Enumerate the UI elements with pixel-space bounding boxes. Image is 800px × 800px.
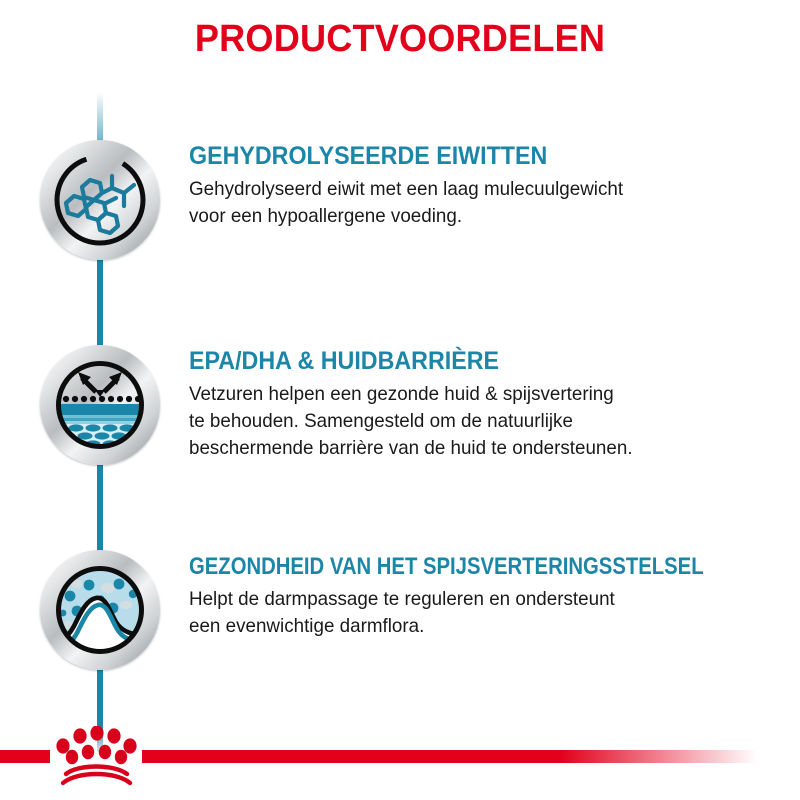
footer-bar-left [0, 750, 50, 763]
benefit-heading: GEHYDROLYSEERDE EIWITTEN [189, 142, 747, 171]
benefit-text-block: GEHYDROLYSEERDE EIWITTEN Gehydrolyseerd … [189, 142, 789, 230]
benefit-body-line: Helpt de darmpassage te reguleren en ond… [189, 586, 768, 613]
benefit-row: GEZONDHEID VAN HET SPIJSVERTERINGSSTELSE… [0, 550, 800, 700]
benefit-body-line: voor een hypoallergene voeding. [189, 203, 768, 230]
benefit-body-line: Gehydrolyseerd eiwit met een laag mulecu… [189, 176, 768, 203]
benefit-row: GEHYDROLYSEERDE EIWITTEN Gehydrolyseerd … [0, 140, 800, 290]
benefit-body-line: beschermende barrière van de huid te ond… [189, 435, 768, 462]
benefit-body: Helpt de darmpassage te reguleren en ond… [189, 586, 768, 640]
benefit-body-line: te behouden. Samengesteld om de natuurli… [189, 408, 768, 435]
benefit-body: Gehydrolyseerd eiwit met een laag mulecu… [189, 176, 768, 230]
skin-barrier-icon [40, 345, 160, 465]
page-title: PRODUCTVOORDELEN [20, 18, 780, 61]
royal-canin-crown-logo [52, 726, 140, 788]
benefit-heading: EPA/DHA & HUIDBARRIÈRE [189, 347, 747, 376]
benefit-text-block: GEZONDHEID VAN HET SPIJSVERTERINGSSTELSE… [189, 552, 789, 640]
molecule-icon [40, 140, 160, 260]
footer-bar-right [142, 750, 757, 763]
benefit-heading: GEZONDHEID VAN HET SPIJSVERTERINGSSTELSE… [189, 552, 696, 581]
digestive-wave-icon [40, 550, 160, 670]
benefit-body-line: Vetzuren helpen een gezonde huid & spijs… [189, 381, 768, 408]
benefit-row: EPA/DHA & HUIDBARRIÈRE Vetzuren helpen e… [0, 345, 800, 495]
benefit-body: Vetzuren helpen een gezonde huid & spijs… [189, 381, 768, 462]
benefit-body-line: een evenwichtige darmflora. [189, 613, 768, 640]
benefit-text-block: EPA/DHA & HUIDBARRIÈRE Vetzuren helpen e… [189, 347, 789, 462]
